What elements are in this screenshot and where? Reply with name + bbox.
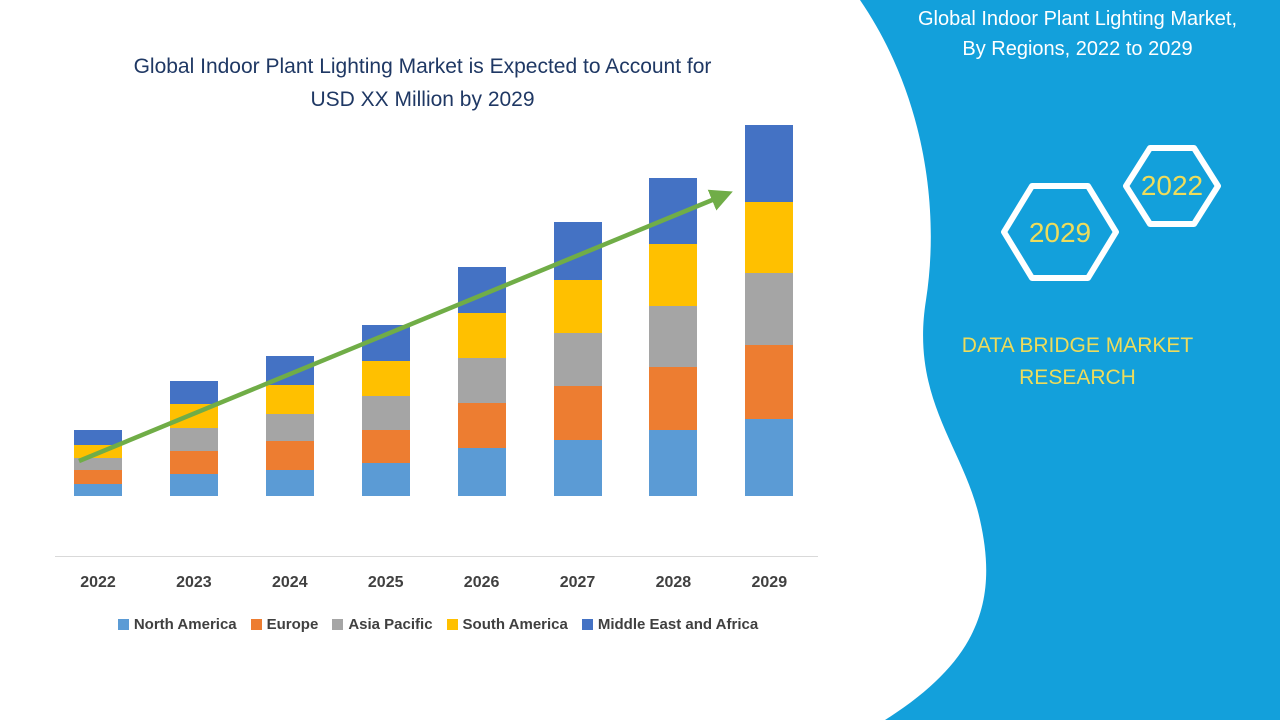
brand-name: DATA BRIDGE MARKET RESEARCH xyxy=(875,330,1280,394)
stacked-bar xyxy=(266,356,314,496)
bar-segment xyxy=(170,404,218,427)
bar-segment xyxy=(362,361,410,397)
bar-segment xyxy=(554,440,602,496)
x-axis-label: 2027 xyxy=(538,574,618,592)
stacked-bar xyxy=(170,381,218,496)
bar-segment xyxy=(74,470,122,484)
bar-segment xyxy=(649,367,697,430)
bar-segment xyxy=(458,358,506,403)
legend-label: Europe xyxy=(267,616,319,633)
bar-segment xyxy=(745,125,793,202)
legend-label: Asia Pacific xyxy=(348,616,432,633)
legend-swatch-icon xyxy=(447,619,458,630)
bar-segment xyxy=(362,430,410,463)
bar-segment xyxy=(74,445,122,457)
legend-swatch-icon xyxy=(332,619,343,630)
slide-canvas: Global Indoor Plant Lighting Market is E… xyxy=(0,0,1280,720)
bar-segment xyxy=(170,428,218,451)
legend-label: Middle East and Africa xyxy=(598,616,758,633)
stacked-bar xyxy=(362,325,410,496)
bar-segment xyxy=(649,430,697,496)
bar-segment xyxy=(458,403,506,448)
legend-label: North America xyxy=(134,616,237,633)
bar-segment xyxy=(554,280,602,333)
bar-segment xyxy=(74,430,122,445)
bar-segment xyxy=(649,306,697,368)
bar-segment xyxy=(170,451,218,474)
brand-panel: Global Indoor Plant Lighting Market, By … xyxy=(830,0,1280,720)
legend-swatch-icon xyxy=(582,619,593,630)
chart-x-axis-labels: 20222023202420252026202720282029 xyxy=(0,574,840,600)
bar-segment xyxy=(649,178,697,244)
x-axis-label: 2025 xyxy=(346,574,426,592)
brand-panel-title: Global Indoor Plant Lighting Market, By … xyxy=(875,0,1280,64)
stacked-bar xyxy=(458,267,506,496)
bar-segment xyxy=(649,244,697,306)
legend-item[interactable]: Europe xyxy=(251,616,319,633)
bar-segment xyxy=(170,381,218,404)
bar-segment xyxy=(266,441,314,470)
bar-segment xyxy=(362,463,410,496)
legend-item[interactable]: North America xyxy=(118,616,237,633)
legend-item[interactable]: Asia Pacific xyxy=(332,616,432,633)
bar-segment xyxy=(554,333,602,386)
x-axis-label: 2022 xyxy=(58,574,138,592)
bar-segment xyxy=(74,458,122,470)
bar-segment xyxy=(362,396,410,430)
bar-segment xyxy=(266,470,314,496)
x-axis-label: 2024 xyxy=(250,574,330,592)
hexagon-icons: 2022 2029 xyxy=(980,140,1230,290)
hexagon-large-label: 2029 xyxy=(1029,217,1091,248)
bar-segment xyxy=(745,419,793,496)
x-axis-label: 2028 xyxy=(633,574,713,592)
x-axis-label: 2023 xyxy=(154,574,234,592)
stacked-bar xyxy=(74,430,122,496)
stacked-bar xyxy=(649,178,697,496)
hexagon-badges: 2022 2029 xyxy=(980,140,1230,290)
legend-swatch-icon xyxy=(251,619,262,630)
chart-plot-area xyxy=(0,0,840,660)
bar-segment xyxy=(266,356,314,385)
bar-segment xyxy=(745,202,793,273)
stacked-bar xyxy=(554,222,602,496)
x-axis-label: 2029 xyxy=(729,574,809,592)
legend-item[interactable]: South America xyxy=(447,616,568,633)
legend-label: South America xyxy=(463,616,568,633)
bar-segment xyxy=(458,448,506,496)
bar-segment xyxy=(458,267,506,312)
bar-segment xyxy=(458,313,506,358)
chart-baseline xyxy=(55,556,818,557)
chart-legend: North AmericaEuropeAsia PacificSouth Ame… xyxy=(48,616,828,633)
stacked-bar xyxy=(745,125,793,496)
legend-swatch-icon xyxy=(118,619,129,630)
growth-arrow xyxy=(0,0,840,660)
bar-segment xyxy=(170,474,218,496)
x-axis-label: 2026 xyxy=(442,574,522,592)
bar-segment xyxy=(745,345,793,419)
hexagon-small-label: 2022 xyxy=(1141,170,1203,201)
bar-segment xyxy=(554,386,602,439)
bar-segment xyxy=(554,222,602,279)
bar-segment xyxy=(745,273,793,346)
bar-segment xyxy=(74,484,122,496)
bar-segment xyxy=(266,385,314,414)
bar-segment xyxy=(362,325,410,361)
legend-item[interactable]: Middle East and Africa xyxy=(582,616,758,633)
bar-segment xyxy=(266,414,314,441)
